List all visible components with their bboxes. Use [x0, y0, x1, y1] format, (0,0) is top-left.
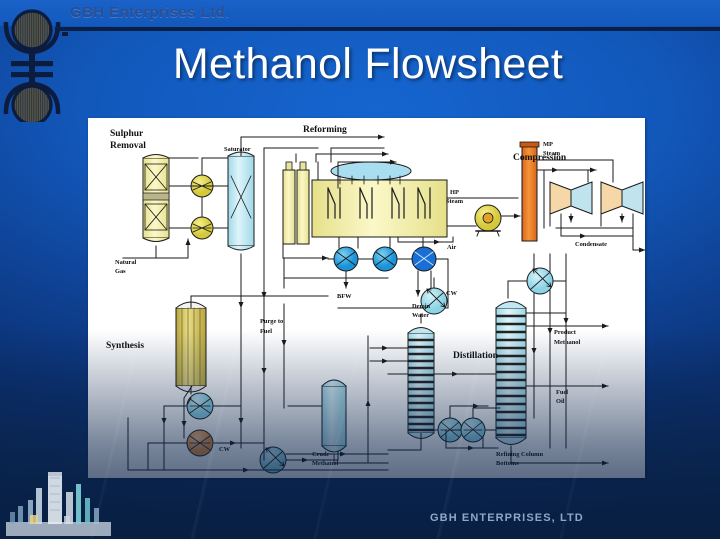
- label-natural-gas-1: Natural: [115, 259, 137, 266]
- synthesis-interchanger: [187, 393, 213, 419]
- syngas-compressor-1: [550, 182, 592, 214]
- label-refining-bottoms-2: Bottoms: [496, 460, 519, 467]
- refining-reboiler: [461, 418, 485, 442]
- label-natural-gas-2: Gas: [115, 268, 126, 275]
- label-air: Air: [447, 244, 456, 251]
- label-crude-methanol-2: Methanol: [312, 460, 338, 467]
- footer-brand: GBH ENTERPRISES, LTD: [430, 512, 690, 524]
- steam-reformer-furnace: [312, 180, 447, 237]
- pipe-reactor-feed: [191, 296, 328, 308]
- methanol-synthesis-reactor: [176, 302, 206, 392]
- label-saturator: Saturator: [224, 146, 251, 153]
- label-demin-water-2: Water: [412, 312, 429, 319]
- label-bfw: BFW: [337, 293, 352, 300]
- pipe-air-line: [398, 237, 453, 242]
- flowsheet-panel: Sulphur Removal Reforming Compression Sy…: [88, 118, 645, 478]
- label-demin-water-1: Demin: [412, 303, 431, 310]
- header-rule: [55, 27, 720, 31]
- label-condensate: Condensate: [575, 241, 607, 248]
- synthesis-cooler: [187, 430, 213, 456]
- label-synthesis: Synthesis: [106, 341, 144, 351]
- refinery-graphic-icon: [6, 468, 111, 536]
- label-cw-distillation: CW: [446, 290, 458, 297]
- crude-methanol-vessel: [322, 380, 346, 452]
- label-purge-to-fuel-1: Purge to: [260, 318, 283, 325]
- pipe-comp1-in-top: [537, 170, 588, 182]
- refining-condenser: [527, 268, 553, 294]
- label-cw-synthesis: CW: [219, 446, 231, 453]
- label-hp-steam-1: HP: [450, 189, 459, 196]
- flowsheet-diagram: Sulphur Removal Reforming Compression Sy…: [88, 118, 645, 478]
- label-sulphur-removal-1: Sulphur: [110, 129, 144, 139]
- pipe-refcol-top: [508, 281, 527, 298]
- pre-reformer-tubes: [283, 162, 309, 244]
- pipe-condensate: [633, 236, 645, 250]
- topping-column: [408, 328, 434, 439]
- label-hp-steam-2: Steam: [446, 198, 464, 205]
- label-reforming: Reforming: [303, 125, 347, 135]
- saturator-column: [228, 152, 254, 250]
- pipe-reformer-top-1: [331, 148, 384, 162]
- label-refining-bottoms-1: Refining Column: [496, 451, 543, 458]
- label-mp-steam-1: MP: [543, 141, 553, 148]
- label-crude-methanol-1: Crude: [312, 451, 330, 458]
- gbh-logo-icon: [2, 4, 68, 122]
- pipe-crude-out: [334, 454, 388, 463]
- air-blower: [475, 205, 501, 236]
- waste-heat-exchanger-bfw: [334, 247, 358, 271]
- page-title: Methanol Flowsheet: [88, 40, 648, 92]
- waste-heat-exchanger-2: [373, 247, 397, 271]
- label-distillation: Distillation: [453, 351, 499, 361]
- label-purge-to-fuel-2: Fuel: [260, 328, 272, 335]
- pipe-comp2-in-top: [537, 160, 613, 182]
- feed-heat-exchanger-2: [191, 217, 213, 239]
- label-product-methanol-2: Methanol: [554, 339, 580, 346]
- brand-title: GBH Enterprises Ltd.: [70, 4, 230, 21]
- label-fuel-oil-2: Oil: [556, 398, 565, 405]
- label-fuel-oil-1: Fuel: [556, 389, 568, 396]
- slide-canvas: GBH Enterprises Ltd. Methanol Flowsheet: [0, 0, 720, 539]
- label-mp-steam-2: Steam: [543, 150, 561, 157]
- label-product-methanol-1: Product: [554, 329, 577, 336]
- distillation-cw-cooler: [421, 288, 447, 314]
- pipe-prereformer-out: [283, 244, 328, 258]
- pipe-purge-header: [284, 278, 388, 288]
- syngas-compressor-2: [601, 182, 643, 214]
- pipe-reformer-top-2: [316, 154, 388, 162]
- refining-column: [496, 302, 526, 445]
- label-sulphur-removal-2: Removal: [110, 141, 146, 151]
- pipe-prereform-bot: [284, 258, 328, 278]
- desulphuriser-vessel: [143, 155, 169, 242]
- waste-heat-exchanger-demin: [412, 247, 436, 271]
